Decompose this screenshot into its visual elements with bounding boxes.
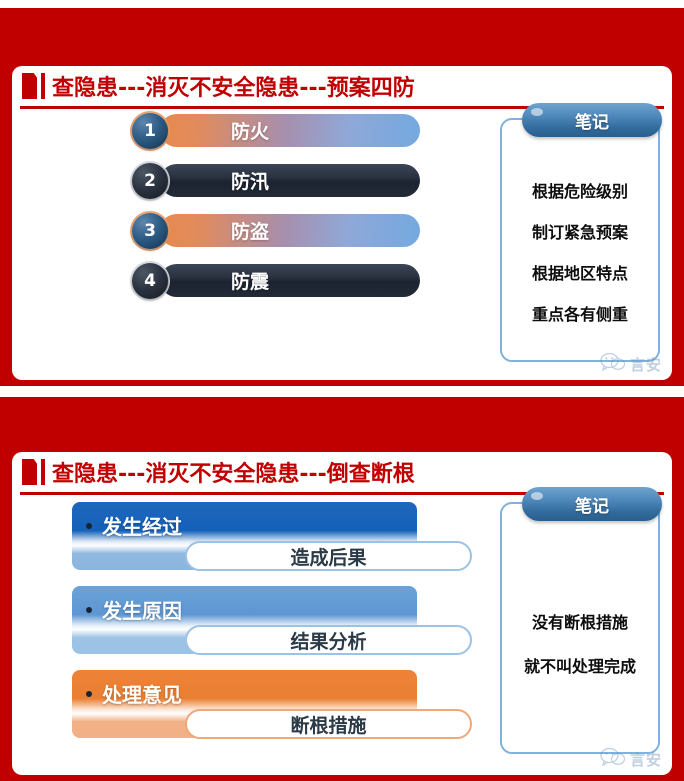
flag-icon <box>22 459 37 485</box>
root-cause-groups: 发生经过 造成后果 发生原因 结果分析 <box>72 502 487 754</box>
page-title: 查隐患---消灭不安全隐患---预案四防 <box>52 70 415 102</box>
group-pill[interactable]: 结果分析 <box>185 625 472 655</box>
slide-1-title-row: 查隐患---消灭不安全隐患---预案四防 <box>12 66 672 106</box>
item-pill[interactable]: 防盗 <box>160 214 420 247</box>
presentation-page: 查隐患---消灭不安全隐患---预案四防 防火 1 防汛 <box>0 0 684 781</box>
bullet-icon <box>86 607 92 613</box>
item-number-badge: 3 <box>132 213 168 249</box>
bullet-icon <box>86 523 92 529</box>
wechat-icon <box>600 352 626 376</box>
list-item[interactable]: 防震 4 <box>12 264 432 297</box>
group-pill-label: 造成后果 <box>290 543 366 570</box>
group-head-label: 发生原因 <box>102 595 182 624</box>
wechat-icon <box>600 747 626 771</box>
item-number-badge: 2 <box>132 163 168 199</box>
watermark: 言安 <box>600 352 662 376</box>
item-number: 4 <box>144 271 156 291</box>
watermark-text: 言安 <box>630 749 662 770</box>
note-line: 没有断根措施 <box>532 609 628 633</box>
group-head: 发生原因 <box>86 595 182 624</box>
list-item[interactable]: 发生原因 结果分析 <box>72 586 487 658</box>
item-pill[interactable]: 防汛 <box>160 164 420 197</box>
bullet-icon <box>86 691 92 697</box>
list-item[interactable]: 发生经过 造成后果 <box>72 502 487 574</box>
notes-header-label: 笔记 <box>575 492 609 517</box>
item-label: 防震 <box>231 267 269 294</box>
group-head: 处理意见 <box>86 679 182 708</box>
slide-1: 查隐患---消灭不安全隐患---预案四防 防火 1 防汛 <box>0 8 684 386</box>
notes-panel: 笔记 根据危险级别 制订紧急预案 根据地区特点 重点各有侧重 <box>500 118 660 362</box>
group-pill[interactable]: 造成后果 <box>185 541 472 571</box>
note-line: 重点各有侧重 <box>532 301 628 325</box>
page-title: 查隐患---消灭不安全隐患---倒查断根 <box>52 456 415 488</box>
title-accent-bar <box>41 459 45 485</box>
item-label: 防火 <box>231 117 269 144</box>
item-number-badge: 1 <box>132 113 168 149</box>
watermark: 言安 <box>600 747 662 771</box>
note-line: 根据危险级别 <box>532 178 628 202</box>
notes-header-pill: 笔记 <box>522 103 662 137</box>
slide-2-card: 查隐患---消灭不安全隐患---倒查断根 发生经过 造成后果 <box>12 452 672 775</box>
note-line: 根据地区特点 <box>532 260 628 284</box>
four-prevention-list: 防火 1 防汛 2 <box>12 114 432 314</box>
note-line: 制订紧急预案 <box>532 219 628 243</box>
group-pill-label: 结果分析 <box>290 627 366 654</box>
list-item[interactable]: 防火 1 <box>12 114 432 147</box>
notes-header-pill: 笔记 <box>522 487 662 521</box>
watermark-text: 言安 <box>630 354 662 375</box>
flag-icon <box>22 73 37 99</box>
notes-body: 根据危险级别 制订紧急预案 根据地区特点 重点各有侧重 <box>502 178 658 325</box>
item-label: 防盗 <box>231 217 269 244</box>
group-head-label: 发生经过 <box>102 511 182 540</box>
item-number: 1 <box>144 121 156 141</box>
notes-panel: 笔记 没有断根措施 就不叫处理完成 <box>500 502 660 754</box>
list-item[interactable]: 防汛 2 <box>12 164 432 197</box>
notes-header-label: 笔记 <box>575 108 609 133</box>
item-number-badge: 4 <box>132 263 168 299</box>
item-pill[interactable]: 防火 <box>160 114 420 147</box>
list-item[interactable]: 防盗 3 <box>12 214 432 247</box>
item-pill[interactable]: 防震 <box>160 264 420 297</box>
item-label: 防汛 <box>231 167 269 194</box>
group-pill-label: 断根措施 <box>290 711 366 738</box>
group-head: 发生经过 <box>86 511 182 540</box>
title-accent-bar <box>41 73 45 99</box>
item-number: 2 <box>144 171 156 191</box>
item-number: 3 <box>144 221 156 241</box>
slide-1-card: 查隐患---消灭不安全隐患---预案四防 防火 1 防汛 <box>12 66 672 380</box>
group-pill[interactable]: 断根措施 <box>185 709 472 739</box>
notes-body: 没有断根措施 就不叫处理完成 <box>502 609 658 677</box>
group-head-label: 处理意见 <box>102 679 182 708</box>
slide-2-title-row: 查隐患---消灭不安全隐患---倒查断根 <box>12 452 672 492</box>
slide-2: 查隐患---消灭不安全隐患---倒查断根 发生经过 造成后果 <box>0 397 684 781</box>
list-item[interactable]: 处理意见 断根措施 <box>72 670 487 742</box>
note-line: 就不叫处理完成 <box>524 653 636 677</box>
